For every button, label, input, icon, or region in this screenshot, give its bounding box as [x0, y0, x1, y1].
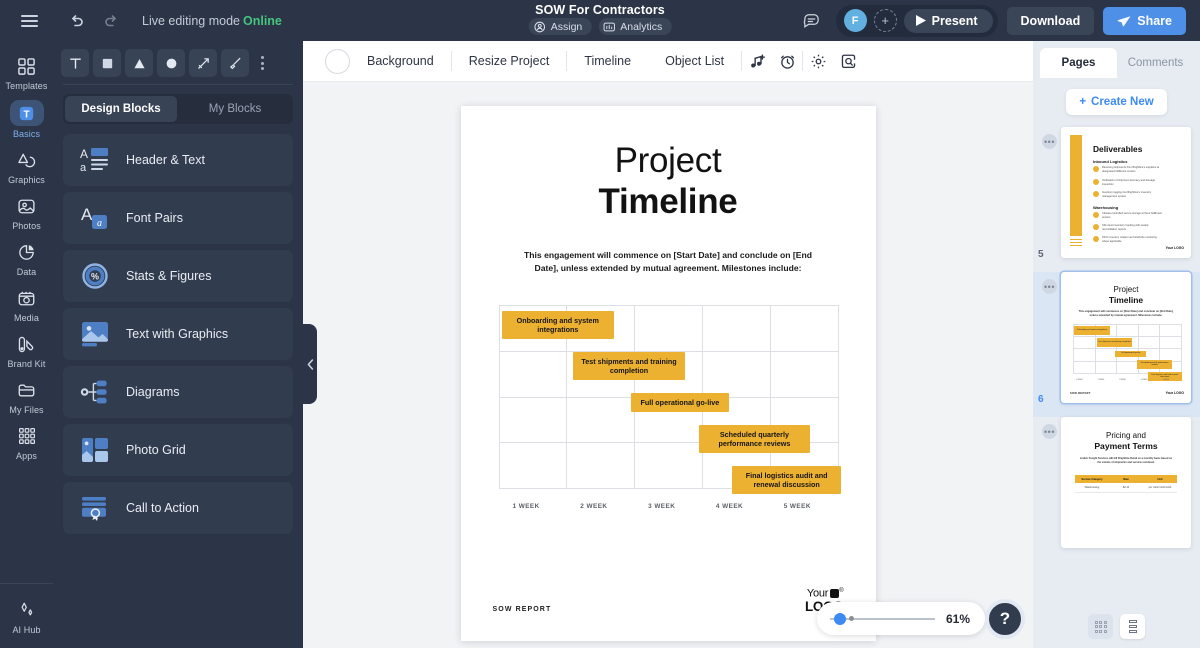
- page-footer-label[interactable]: SOW REPORT: [493, 606, 552, 613]
- thumb-bullet-text: Climate-controlled secure storage at thr…: [1102, 212, 1162, 220]
- tab-design-blocks[interactable]: Design Blocks: [65, 96, 177, 122]
- zoom-slider-default-marker: [849, 616, 854, 621]
- more-options-icon[interactable]: [253, 49, 271, 77]
- hamburger-icon[interactable]: [14, 6, 44, 36]
- thumb-bullet-icon: [1093, 166, 1099, 172]
- axis-tick: 1 WEEK: [499, 503, 567, 510]
- tab-my-blocks[interactable]: My Blocks: [179, 96, 291, 122]
- top-bar: Live editing modeOnline SOW For Contract…: [0, 0, 1200, 41]
- top-bar-center: SOW For Contractors Assign: [529, 3, 672, 35]
- redo-icon[interactable]: [96, 6, 126, 36]
- block-label: Header & Text: [126, 153, 205, 167]
- download-button[interactable]: Download: [1007, 7, 1095, 35]
- block-label: Photo Grid: [126, 443, 186, 457]
- block-label: Font Pairs: [126, 211, 183, 225]
- axis-tick: 2 WEEK: [566, 503, 634, 510]
- page-options-icon[interactable]: •••: [1042, 134, 1057, 149]
- play-icon: [916, 15, 926, 26]
- page-slot-7[interactable]: ••• Pricing and Payment Terms Linden Fre…: [1033, 417, 1200, 562]
- share-button[interactable]: Share: [1103, 7, 1186, 35]
- svg-text:a: a: [80, 162, 87, 174]
- thumb-title: Deliverables: [1093, 144, 1142, 154]
- app-root: Live editing modeOnline SOW For Contract…: [0, 0, 1200, 648]
- zoom-slider[interactable]: [830, 618, 935, 620]
- add-user-icon[interactable]: +: [874, 9, 897, 32]
- svg-text:%: %: [91, 272, 99, 282]
- panel-tabs: Design Blocks My Blocks: [63, 94, 293, 124]
- page-footer: SOW REPORT Your® LOGO: [493, 588, 844, 613]
- block-diagrams[interactable]: Diagrams: [63, 366, 293, 418]
- table-cell: Warehousing: [1075, 483, 1109, 492]
- thumb-bullet-icon: [1093, 179, 1099, 185]
- sidebar-label-ai-hub: AI Hub: [12, 625, 40, 635]
- logo-top-text: Your: [807, 588, 828, 600]
- avatar[interactable]: F: [844, 9, 867, 32]
- thumb-bullet-text: Receiving shipments from Brightline's su…: [1102, 166, 1162, 174]
- sidebar-label-photos: Photos: [12, 221, 41, 231]
- comment-icon[interactable]: [797, 6, 827, 36]
- share-button-label: Share: [1137, 14, 1172, 28]
- brush-tool-icon[interactable]: [221, 49, 249, 77]
- zoom-value: 61%: [946, 612, 970, 626]
- page-thumbnail-pricing[interactable]: Pricing and Payment Terms Linden Freight…: [1061, 417, 1191, 548]
- sidebar-label-graphics: Graphics: [8, 175, 45, 185]
- page-options-icon[interactable]: •••: [1042, 279, 1057, 294]
- tab-comments[interactable]: Comments: [1117, 48, 1194, 78]
- table-cell: $2.10: [1109, 483, 1143, 492]
- toolbar-timeline[interactable]: Timeline: [567, 54, 648, 68]
- gantt-bar[interactable]: Full operational go-live: [631, 393, 729, 412]
- thumb-accent-bar: [1070, 135, 1082, 236]
- page-thumbnail-timeline[interactable]: Project Timeline This engagement will co…: [1061, 272, 1191, 403]
- thumb-bullet-icon: [1093, 212, 1099, 218]
- thumb-section-heading: Inbound Logistics: [1093, 159, 1127, 164]
- sidebar-label-brand-kit: Brand Kit: [8, 359, 46, 369]
- sidebar-item-brand-kit[interactable]: Brand Kit: [0, 327, 53, 373]
- gantt-bar[interactable]: Scheduled quarterly performance reviews: [699, 425, 811, 453]
- gantt-bar[interactable]: Final logistics audit and renewal discus…: [732, 466, 840, 494]
- sidebar-label-basics: Basics: [13, 129, 40, 139]
- sidebar-item-graphics[interactable]: Graphics: [0, 143, 53, 189]
- settings-gear-icon[interactable]: [803, 46, 833, 76]
- page-slot-5[interactable]: ••• 5 Deliverables Inbound Logistics Rec…: [1033, 127, 1200, 272]
- block-label: Text with Graphics: [126, 327, 228, 341]
- list-view-icon[interactable]: [1120, 614, 1145, 639]
- sidebar-item-templates[interactable]: Templates: [0, 49, 53, 95]
- document-page[interactable]: Project Timeline This engagement will co…: [461, 106, 876, 641]
- page-intro-text[interactable]: This engagement will commence on [Start …: [516, 249, 821, 276]
- thumb-gantt-bar: Scheduled quarterly performance reviews: [1137, 360, 1173, 369]
- analytics-icon: [602, 20, 615, 33]
- logo-registered-mark: ®: [839, 588, 843, 594]
- assign-chip[interactable]: Assign: [529, 18, 592, 35]
- analytics-chip[interactable]: Analytics: [598, 18, 671, 35]
- timer-icon[interactable]: [772, 46, 802, 76]
- sidebar-label-media: Media: [14, 313, 39, 323]
- sidebar-item-apps[interactable]: Apps: [0, 419, 53, 465]
- panel-collapse-button[interactable]: [303, 324, 317, 404]
- text-tool-icon[interactable]: [61, 49, 89, 77]
- thumb-gantt-bar: Test shipments and training completion: [1097, 338, 1133, 347]
- logo-mark-icon: [830, 589, 839, 598]
- block-header-text[interactable]: A a Header & Text: [63, 134, 293, 186]
- assign-user-icon: [533, 20, 546, 33]
- design-blocks-list: A a Header & Text A: [53, 129, 303, 550]
- create-new-label: Create New: [1091, 96, 1154, 108]
- undo-redo-group: [62, 6, 126, 36]
- thumb-title-line2: Payment Terms: [1061, 441, 1191, 451]
- share-arrow-icon: [1117, 14, 1131, 27]
- call-to-action-icon: [79, 492, 111, 524]
- table-header-cell: Rate: [1109, 475, 1143, 483]
- live-mode-label: Live editing mode: [142, 14, 240, 28]
- help-question-icon[interactable]: ?: [985, 599, 1025, 639]
- doc-action-chips: Assign Analytics: [529, 18, 672, 35]
- page-number: 6: [1038, 394, 1044, 405]
- triangle-tool-icon[interactable]: [125, 49, 153, 77]
- thumb-bullet-text: SKU-level inventory tracking with weekly…: [1102, 224, 1162, 232]
- thumb-gantt-chart: Onboarding and system integrations Test …: [1073, 324, 1181, 380]
- thumb-footer-label: SOW REPORT: [1070, 392, 1091, 395]
- sidebar-label-my-files: My Files: [9, 405, 43, 415]
- present-button[interactable]: Present: [904, 9, 993, 33]
- page-number: 5: [1038, 249, 1044, 260]
- assign-chip-label: Assign: [551, 21, 583, 33]
- page-slot-6[interactable]: ••• 6 Project Timeline This engagement w…: [1033, 272, 1200, 417]
- data-chart-icon: [14, 240, 40, 264]
- analytics-chip-label: Analytics: [620, 21, 662, 33]
- thumb-bullet-text: Verification of shipment accuracy and da…: [1102, 179, 1162, 187]
- thumb-axis-tick: 5 WEEK: [1159, 379, 1181, 381]
- graphics-shapes-icon: [14, 148, 40, 172]
- create-new-button[interactable]: + Create New: [1066, 89, 1166, 115]
- svg-text:A: A: [81, 205, 93, 224]
- thumb-axis-tick: 1 WEEK: [1073, 379, 1095, 381]
- circle-tool-icon[interactable]: [157, 49, 185, 77]
- thumb-logo: Your LOGO: [1166, 247, 1184, 251]
- table-header-cell: Unit: [1143, 475, 1177, 483]
- media-video-icon: [14, 286, 40, 310]
- basics-text-icon: T: [10, 100, 44, 126]
- design-blocks-panel: Design Blocks My Blocks A a: [53, 41, 303, 648]
- svg-text:a: a: [97, 218, 102, 229]
- block-text-with-graphics[interactable]: Text with Graphics: [63, 308, 293, 360]
- diagrams-icon: [79, 376, 111, 408]
- thumb-bullet-icon: [1093, 236, 1099, 242]
- folder-icon: [14, 378, 40, 402]
- thumb-bullet-icon: [1093, 224, 1099, 230]
- brand-kit-icon: [14, 332, 40, 356]
- templates-icon: [14, 54, 40, 78]
- header-text-icon: A a: [79, 144, 111, 176]
- table-cell: per cubic foot/month: [1143, 483, 1177, 492]
- axis-tick: 4 WEEK: [702, 503, 770, 510]
- document-title[interactable]: SOW For Contractors: [535, 3, 665, 17]
- page-title-line2[interactable]: Timeline: [493, 181, 844, 222]
- sidebar-label-templates: Templates: [6, 81, 48, 91]
- pages-panel-tabs: Pages Comments: [1033, 41, 1200, 78]
- background-color-swatch[interactable]: [325, 49, 350, 74]
- table-header-row: Service Category Rate Unit: [1075, 475, 1177, 483]
- gantt-axis-labels: 1 WEEK 2 WEEK 3 WEEK 4 WEEK 5 WEEK: [499, 503, 838, 510]
- plus-icon: +: [1079, 96, 1086, 108]
- zoom-search-icon[interactable]: [833, 46, 863, 76]
- block-label: Stats & Figures: [126, 269, 211, 283]
- line-arrow-tool-icon[interactable]: [189, 49, 217, 77]
- thumb-title-line2: Timeline: [1061, 295, 1191, 305]
- panel-tool-row: [53, 41, 303, 84]
- canvas-area: Background Resize Project Timeline Objec…: [303, 41, 1033, 648]
- table-header-cell: Service Category: [1075, 475, 1109, 483]
- gantt-chart[interactable]: Onboarding and system integrations Test …: [499, 305, 838, 510]
- block-label: Call to Action: [126, 501, 199, 515]
- sidebar-label-apps: Apps: [16, 451, 37, 461]
- photos-icon: [14, 194, 40, 218]
- present-button-label: Present: [932, 14, 978, 28]
- toolbar-resize-project[interactable]: Resize Project: [452, 54, 567, 68]
- zoom-control: 61%: [817, 602, 985, 635]
- pages-view-toggle: [1033, 605, 1200, 648]
- font-pairs-icon: A a: [79, 202, 111, 234]
- grid-view-icon[interactable]: [1088, 614, 1113, 639]
- chevron-left-icon: [307, 359, 314, 370]
- block-stats-figures[interactable]: % Stats & Figures: [63, 250, 293, 302]
- zoom-slider-knob[interactable]: [834, 613, 846, 625]
- page-options-icon[interactable]: •••: [1042, 424, 1057, 439]
- canvas-toolbar: Background Resize Project Timeline Objec…: [303, 41, 1033, 82]
- thumb-axis-tick: 4 WEEK: [1138, 379, 1160, 381]
- axis-tick: 5 WEEK: [770, 503, 838, 510]
- live-mode-status: Online: [243, 14, 282, 28]
- thumb-axis-tick: 3 WEEK: [1116, 379, 1138, 381]
- axis-tick: 3 WEEK: [634, 503, 702, 510]
- thumb-section-heading: Warehousing: [1093, 205, 1118, 210]
- thumb-title-line1: Pricing and: [1061, 431, 1191, 440]
- sidebar-item-media[interactable]: Media: [0, 281, 53, 327]
- thumb-axis-tick: 2 WEEK: [1095, 379, 1117, 381]
- ai-sparkle-icon: [14, 598, 40, 622]
- gantt-bar[interactable]: Test shipments and training completion: [573, 352, 685, 380]
- thumb-bullet-icon: [1093, 191, 1099, 197]
- thumb-axis-labels: 1 WEEK 2 WEEK 3 WEEK 4 WEEK 5 WEEK: [1073, 379, 1181, 381]
- svg-text:T: T: [23, 109, 29, 120]
- pages-panel: Pages Comments + Create New ••• 5 Delive…: [1033, 41, 1200, 648]
- thumb-bullet-text: Inventory logging into Brightline's inve…: [1102, 191, 1162, 199]
- svg-text:A: A: [80, 147, 88, 161]
- top-bar-right: F + Present Download Share: [797, 5, 1200, 37]
- gantt-bar[interactable]: Onboarding and system integrations: [502, 311, 614, 339]
- pages-thumbnail-list: ••• 5 Deliverables Inbound Logistics Rec…: [1033, 115, 1200, 648]
- top-bar-left: Live editing modeOnline: [0, 6, 282, 36]
- block-call-to-action[interactable]: Call to Action: [63, 482, 293, 534]
- present-group: F + Present: [836, 5, 998, 37]
- left-rail: Templates T Basics Graphics: [0, 41, 53, 648]
- block-font-pairs[interactable]: A a Font Pairs: [63, 192, 293, 244]
- thumb-accent-lines: [1070, 239, 1082, 246]
- add-music-icon[interactable]: [742, 46, 772, 76]
- thumb-intro: This engagement will commence on [Start …: [1075, 310, 1177, 318]
- photo-grid-icon: [79, 434, 111, 466]
- sidebar-item-photos[interactable]: Photos: [0, 189, 53, 235]
- thumb-gantt-bar: Full operational go-live: [1115, 351, 1146, 357]
- thumb-title-line1: Project: [1061, 285, 1191, 294]
- panel-divider: [63, 84, 293, 85]
- toolbar-object-list[interactable]: Object List: [648, 54, 741, 68]
- stats-figures-icon: %: [79, 260, 111, 292]
- toolbar-background[interactable]: Background: [350, 54, 451, 68]
- canvas-viewport[interactable]: Project Timeline This engagement will co…: [303, 82, 1033, 648]
- square-tool-icon[interactable]: [93, 49, 121, 77]
- sidebar-label-data: Data: [17, 267, 36, 277]
- block-photo-grid[interactable]: Photo Grid: [63, 424, 293, 476]
- thumb-intro: Linden Freight Services will bill Bright…: [1079, 457, 1173, 465]
- tab-pages[interactable]: Pages: [1040, 48, 1117, 78]
- apps-grid-icon: [14, 424, 40, 448]
- sidebar-item-basics[interactable]: T Basics: [0, 95, 53, 143]
- thumb-bullet-text: FIFO inventory rotation and shelf-life m…: [1102, 236, 1162, 244]
- live-editing-mode: Live editing modeOnline: [142, 14, 282, 28]
- thumb-pricing-table: Service Category Rate Unit Warehousing $…: [1075, 475, 1177, 493]
- sidebar-item-my-files[interactable]: My Files: [0, 373, 53, 419]
- sidebar-item-ai-hub[interactable]: AI Hub: [0, 593, 53, 639]
- sidebar-item-data[interactable]: Data: [0, 235, 53, 281]
- page-title-line1[interactable]: Project: [493, 140, 844, 181]
- page-thumbnail-deliverables[interactable]: Deliverables Inbound Logistics Receiving…: [1061, 127, 1191, 258]
- text-with-graphics-icon: [79, 318, 111, 350]
- thumb-gantt-bar: Onboarding and system integrations: [1074, 326, 1110, 335]
- app-body: Templates T Basics Graphics: [0, 41, 1200, 648]
- table-row: Warehousing $2.10 per cubic foot/month: [1075, 483, 1177, 493]
- rail-bottom-section: AI Hub: [0, 583, 53, 648]
- block-label: Diagrams: [126, 385, 180, 399]
- thumb-logo: Your LOGO: [1166, 392, 1184, 396]
- undo-icon[interactable]: [62, 6, 92, 36]
